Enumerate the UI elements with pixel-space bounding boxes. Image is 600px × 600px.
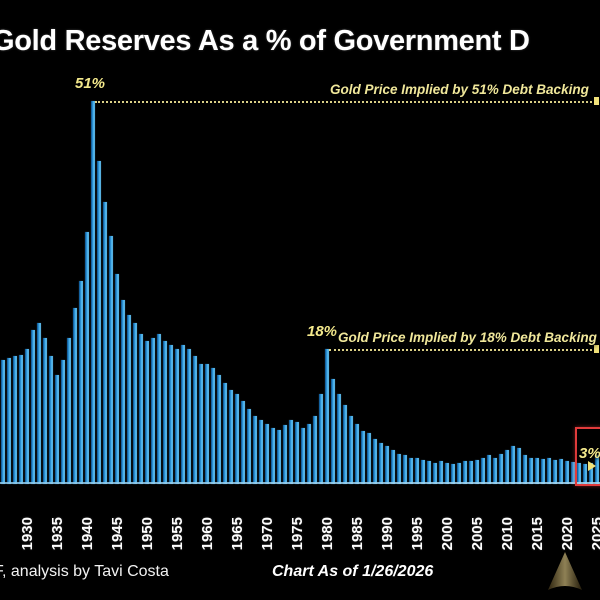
annotation-label-3: 3% (579, 445, 600, 462)
x-axis-tick-1940: 1940 (79, 517, 96, 550)
annotation-label-51: 51% (75, 75, 105, 92)
bar (73, 308, 77, 484)
bar-item (594, 86, 600, 484)
bar (217, 375, 221, 484)
bar (505, 450, 509, 484)
bar (319, 394, 323, 484)
x-axis-tick-1990: 1990 (379, 517, 396, 550)
bar (499, 454, 503, 484)
bar (259, 420, 263, 484)
x-axis-tick-labels: 1930193519401945195019551960196519701975… (0, 488, 600, 550)
bar (379, 443, 383, 484)
x-axis-tick-2025: 2025 (589, 517, 600, 550)
bar (517, 448, 521, 484)
bar (121, 300, 125, 484)
annotation-label-18: 18% (307, 323, 337, 340)
bar (349, 416, 353, 484)
bar (487, 455, 491, 484)
bar (193, 356, 197, 484)
bar (157, 334, 161, 484)
bar (553, 460, 557, 484)
x-axis-tick-1960: 1960 (199, 517, 216, 550)
x-axis-tick-2005: 2005 (469, 517, 486, 550)
bar (7, 358, 11, 484)
bar (199, 364, 203, 484)
x-axis-tick-1935: 1935 (49, 517, 66, 550)
x-axis-tick-1965: 1965 (229, 517, 246, 550)
bar (145, 341, 149, 484)
implied-line-18 (329, 349, 596, 351)
bar (253, 416, 257, 484)
bar (85, 232, 89, 484)
bar (91, 101, 95, 484)
x-axis-tick-1985: 1985 (349, 517, 366, 550)
bar (385, 446, 389, 484)
current-level-arrow-head (588, 461, 596, 471)
chart-screenshot: Gold Reserves As a % of Government D 51%… (0, 0, 600, 600)
x-axis-tick-1980: 1980 (319, 517, 336, 550)
bar (169, 345, 173, 484)
bar (439, 461, 443, 484)
x-axis-tick-1945: 1945 (109, 517, 126, 550)
bar (49, 356, 53, 484)
bar (463, 461, 467, 484)
bar (475, 460, 479, 484)
bar (97, 161, 101, 484)
bar (181, 345, 185, 484)
bar (559, 459, 563, 484)
implied-label-51: Gold Price Implied by 51% Debt Backing (330, 82, 589, 97)
bar (343, 405, 347, 484)
bar (433, 463, 437, 484)
bar (289, 420, 293, 484)
bar (109, 236, 113, 484)
crescat-triangle-logo-icon (538, 548, 592, 596)
bar (325, 349, 329, 484)
bar (391, 450, 395, 484)
bar (421, 460, 425, 484)
implied-line-51-endcap (594, 97, 599, 105)
bar (235, 394, 239, 484)
x-axis-tick-1970: 1970 (259, 517, 276, 550)
bar (337, 394, 341, 484)
bar (103, 202, 107, 484)
x-axis-tick-2015: 2015 (529, 517, 546, 550)
bar (535, 458, 539, 484)
bar (37, 323, 41, 484)
bar (187, 349, 191, 484)
bar (31, 330, 35, 484)
x-axis-tick-2020: 2020 (559, 517, 576, 550)
x-axis-tick-2010: 2010 (499, 517, 516, 550)
bar (541, 459, 545, 484)
bar (373, 439, 377, 484)
bar (295, 422, 299, 484)
bar (331, 379, 335, 484)
bar (211, 368, 215, 484)
bar (127, 315, 131, 484)
plot-area (0, 86, 600, 484)
bar (271, 428, 275, 484)
bar (67, 338, 71, 484)
x-axis-tick-2000: 2000 (439, 517, 456, 550)
bar (367, 433, 371, 484)
bar (427, 461, 431, 484)
x-axis-tick-1930: 1930 (19, 517, 36, 550)
x-axis-baseline (0, 482, 600, 484)
bar (133, 323, 137, 484)
bar (241, 401, 245, 484)
bar (301, 428, 305, 484)
bar (229, 390, 233, 484)
bar (277, 430, 281, 484)
bar (283, 425, 287, 484)
bar (151, 338, 155, 484)
bar-series (0, 86, 600, 484)
bar (43, 338, 47, 484)
bar (565, 461, 569, 484)
bar (547, 458, 551, 484)
bar (307, 424, 311, 484)
bar (265, 424, 269, 484)
bar (481, 458, 485, 484)
bar (457, 463, 461, 484)
bar (163, 341, 167, 484)
bar (13, 356, 17, 484)
bar (469, 461, 473, 484)
x-axis-tick-1950: 1950 (139, 517, 156, 550)
bar (223, 383, 227, 484)
bar (55, 375, 59, 484)
bar (361, 431, 365, 484)
page-title: Gold Reserves As a % of Government D (0, 24, 600, 58)
implied-line-18-endcap (594, 345, 599, 353)
bar (523, 455, 527, 484)
bar (139, 334, 143, 484)
bar (19, 355, 23, 484)
bar (403, 455, 407, 484)
bar (1, 360, 5, 484)
x-axis-tick-1975: 1975 (289, 517, 306, 550)
bar (409, 458, 413, 484)
x-axis-tick-1995: 1995 (409, 517, 426, 550)
bar (247, 409, 251, 484)
bar (415, 458, 419, 484)
source-note: F, analysis by Tavi Costa (0, 563, 169, 581)
bar (313, 416, 317, 484)
bar (355, 424, 359, 484)
as-of-note: Chart As of 1/26/2026 (272, 563, 433, 581)
bar (511, 446, 515, 484)
x-axis-tick-1955: 1955 (169, 517, 186, 550)
bar (529, 458, 533, 484)
bar (79, 281, 83, 484)
bar (115, 274, 119, 484)
implied-line-51 (95, 101, 596, 103)
bar (205, 364, 209, 484)
bar (61, 360, 65, 484)
bar (175, 349, 179, 484)
bar (493, 458, 497, 484)
implied-label-18: Gold Price Implied by 18% Debt Backing (338, 330, 597, 345)
bar (25, 349, 29, 484)
bar (445, 463, 449, 484)
bar (397, 454, 401, 484)
